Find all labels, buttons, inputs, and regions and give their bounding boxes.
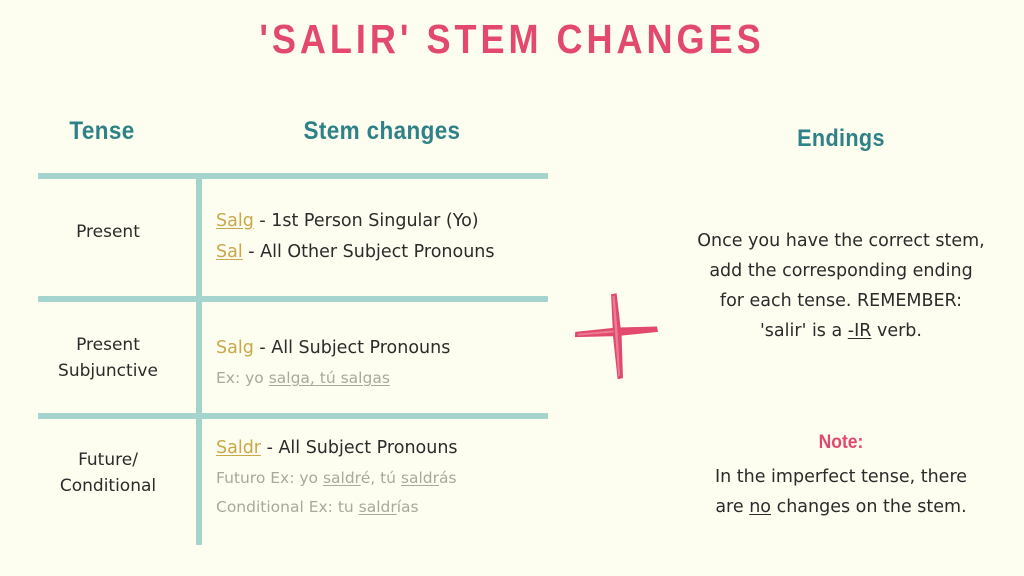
table-row-stem-content: Saldr - All Subject PronounsFuturo Ex: y… [216, 433, 556, 522]
note-highlight: no [749, 497, 771, 517]
endings-paragraph-line: 'salir' is a -IR verb. [660, 316, 1022, 346]
endings-prefix: 'salir' is a [760, 321, 848, 341]
endings-paragraph: Once you have the correct stem,add the c… [660, 226, 1022, 346]
endings-paragraph-line: Once you have the correct stem, [660, 226, 1022, 256]
stem-change-line: Sal - All Other Subject Pronouns [216, 237, 556, 268]
stem-example-line: Futuro Ex: yo saldré, tú saldrás [216, 464, 556, 493]
page-title: 'SALIR' STEM CHANGES [61, 16, 962, 63]
stem-change-line: Saldr - All Subject Pronouns [216, 433, 556, 464]
endings-suffix: verb. [871, 321, 922, 341]
example-prefix: Ex: yo [216, 369, 269, 387]
infographic-canvas: 'SALIR' STEM CHANGES Tense Stem changes … [0, 0, 1024, 576]
table-divider-vertical [196, 173, 202, 545]
note-suffix: changes on the stem. [771, 497, 967, 517]
table-row-stem-content: Salg - 1st Person Singular (Yo)Sal - All… [216, 206, 556, 268]
table-row-tense-label: PresentSubjunctive [28, 332, 188, 384]
table-divider-middle [38, 296, 548, 302]
endings-paragraph-line: add the corresponding ending [660, 256, 1022, 286]
note-line: In the imperfect tense, there [660, 462, 1022, 492]
verb-ending-highlight: -IR [848, 321, 872, 341]
column-header-endings: Endings [693, 125, 990, 153]
column-header-stem-changes: Stem changes [229, 117, 535, 146]
stem-example-line: Ex: yo salga, tú salgas [216, 364, 556, 393]
stem-description: - All Subject Pronouns [261, 438, 458, 458]
note-title: Note: [674, 432, 1007, 454]
example-suffix: ás [439, 469, 457, 487]
tense-label-line: Present [28, 219, 188, 245]
tense-label-line: Subjunctive [28, 358, 188, 384]
stem-description: - 1st Person Singular (Yo) [254, 211, 479, 231]
endings-paragraph-line: for each tense. REMEMBER: [660, 286, 1022, 316]
stem-key: Sal [216, 242, 243, 262]
stem-key: Salg [216, 338, 254, 358]
column-header-tense: Tense [35, 117, 168, 146]
example-prefix: Futuro Ex: yo [216, 469, 323, 487]
stem-example-line: Conditional Ex: tu saldrías [216, 493, 556, 522]
note-paragraph: In the imperfect tense, thereare no chan… [660, 462, 1022, 522]
stem-change-line: Salg - 1st Person Singular (Yo) [216, 206, 556, 237]
example-stem: salga, tú salgas [269, 369, 390, 387]
note-line: are no changes on the stem. [660, 492, 1022, 522]
stem-change-line: Salg - All Subject Pronouns [216, 333, 556, 364]
plus-icon [570, 290, 662, 382]
table-row-stem-content: Salg - All Subject PronounsEx: yo salga,… [216, 333, 556, 393]
tense-label-line: Conditional [28, 473, 188, 499]
stem-description: - All Subject Pronouns [254, 338, 451, 358]
table-row-tense-label: Present [28, 219, 188, 245]
tense-label-line: Present [28, 332, 188, 358]
example-stem: saldr [359, 498, 397, 516]
example-stem: saldr [323, 469, 361, 487]
example-suffix: ías [397, 498, 419, 516]
note-prefix: are [715, 497, 749, 517]
table-row-tense-label: Future/Conditional [28, 447, 188, 499]
stem-key: Salg [216, 211, 254, 231]
table-divider-lower [38, 413, 548, 419]
example-stem: saldr [401, 469, 439, 487]
tense-label-line: Future/ [28, 447, 188, 473]
example-suffix: é, tú [361, 469, 401, 487]
stem-key: Saldr [216, 438, 261, 458]
stem-description: - All Other Subject Pronouns [243, 242, 495, 262]
table-divider-top [38, 173, 548, 179]
example-prefix: Conditional Ex: tu [216, 498, 359, 516]
